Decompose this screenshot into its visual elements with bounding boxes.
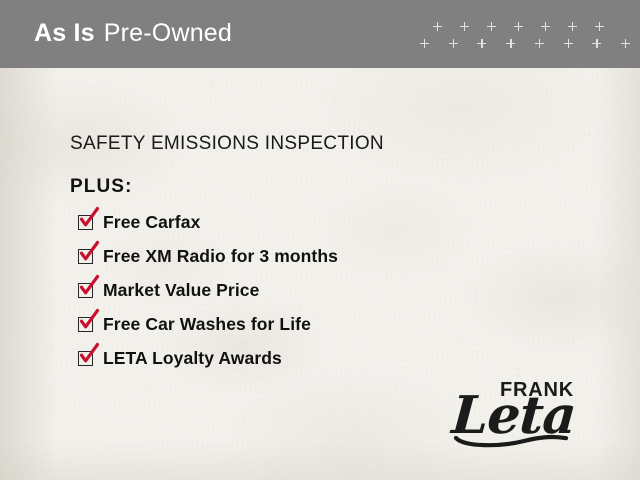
plus-icon <box>592 39 601 48</box>
plus-pattern-row-top <box>420 22 630 34</box>
logo-swash-underline <box>454 434 574 448</box>
list-item: Market Value Price <box>78 279 518 313</box>
plus-icon <box>535 39 544 48</box>
checkbox-checked-icon <box>78 249 93 264</box>
page-headline: SAFETY EMISSIONS INSPECTION <box>70 133 384 155</box>
plus-section-label: PLUS: <box>70 176 133 198</box>
checkmark-icon <box>77 309 101 333</box>
list-item: LETA Loyalty Awards <box>78 347 518 381</box>
checkmark-icon <box>77 241 101 265</box>
plus-icon <box>621 39 630 48</box>
plus-icon <box>487 22 496 31</box>
list-item-label: Free Carfax <box>103 211 200 233</box>
checkbox-checked-icon <box>78 351 93 366</box>
header-title-light: Pre-Owned <box>104 19 232 47</box>
checkmark-icon <box>77 275 101 299</box>
header-band: As IsPre-Owned <box>0 0 640 68</box>
checkbox-checked-icon <box>78 283 93 298</box>
plus-pattern-decoration <box>420 22 630 56</box>
checkbox-checked-icon <box>78 215 93 230</box>
benefits-check-list: Free Carfax Free XM Radio for 3 months M… <box>78 211 518 381</box>
slide-canvas: As IsPre-Owned <box>0 0 640 480</box>
list-item-label: Free XM Radio for 3 months <box>103 245 338 267</box>
frank-leta-logo: FRANK Leta <box>452 378 592 446</box>
plus-icon <box>506 39 515 48</box>
list-item: Free Car Washes for Life <box>78 313 518 347</box>
list-item: Free XM Radio for 3 months <box>78 245 518 279</box>
checkbox-checked-icon <box>78 317 93 332</box>
plus-icon <box>420 39 429 48</box>
plus-icon <box>433 22 442 31</box>
plus-icon <box>568 22 577 31</box>
checkmark-icon <box>77 343 101 367</box>
plus-pattern-row-bottom <box>420 39 630 51</box>
checkmark-icon <box>77 207 101 231</box>
list-item-label: LETA Loyalty Awards <box>103 347 282 369</box>
plus-icon <box>449 39 458 48</box>
list-item-label: Market Value Price <box>103 279 259 301</box>
plus-icon <box>460 22 469 31</box>
list-item-label: Free Car Washes for Life <box>103 313 311 335</box>
plus-icon <box>541 22 550 31</box>
plus-icon <box>595 22 604 31</box>
list-item: Free Carfax <box>78 211 518 245</box>
plus-icon <box>477 39 486 48</box>
plus-icon <box>564 39 573 48</box>
header-title: As IsPre-Owned <box>34 19 232 48</box>
header-title-strong: As Is <box>34 19 95 47</box>
plus-icon <box>514 22 523 31</box>
